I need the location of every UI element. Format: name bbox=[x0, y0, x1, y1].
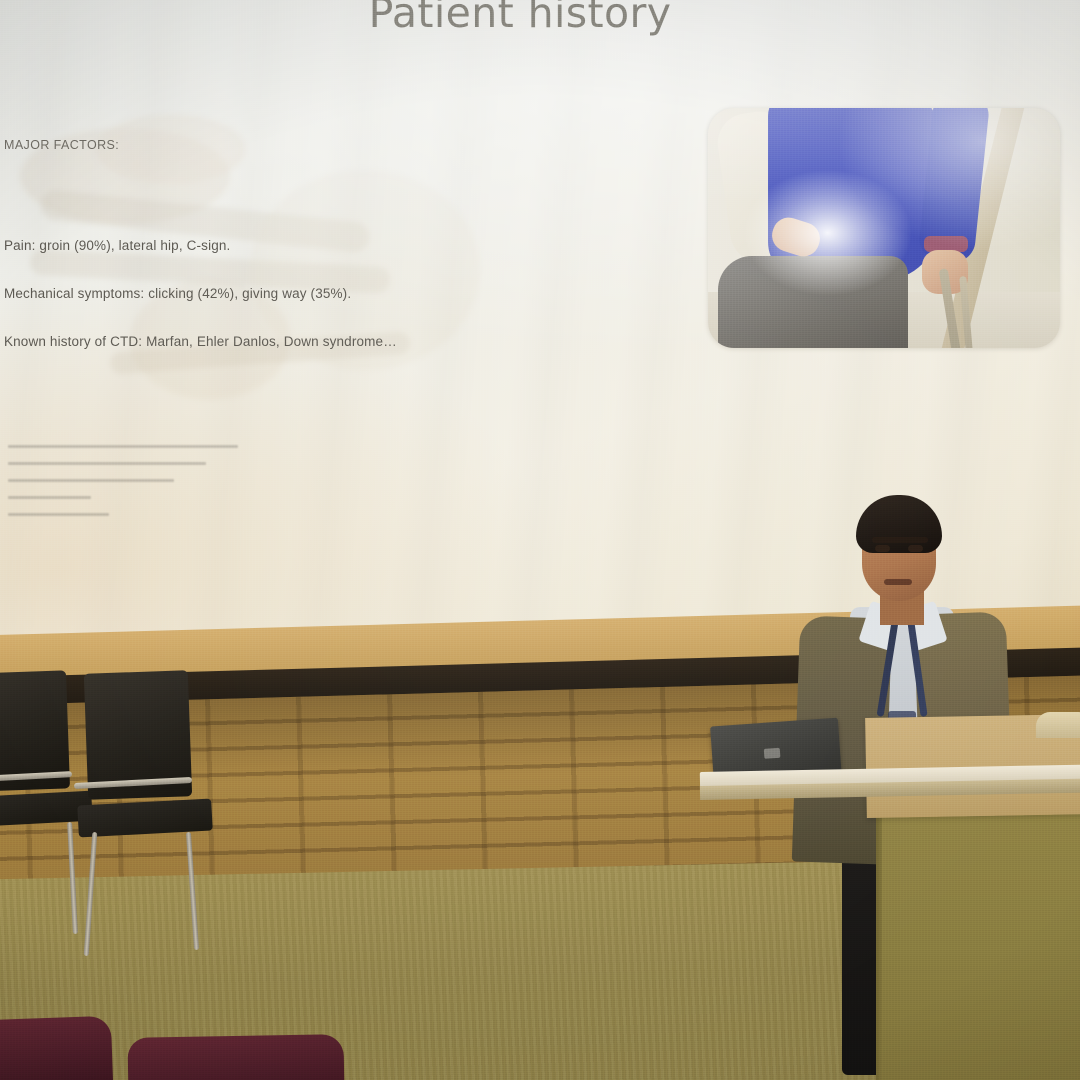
inset-photo-glare bbox=[708, 108, 1060, 348]
maroon-seat-right bbox=[127, 1034, 344, 1080]
chair-back-right bbox=[78, 676, 258, 956]
slide-section-label: MAJOR FACTORS: bbox=[4, 138, 119, 152]
podium-side-lip bbox=[1036, 712, 1080, 738]
slide-bullet-item: Known history of CTD: Marfan, Ehler Danl… bbox=[4, 334, 624, 349]
slide-bullet-item: Mechanical symptoms: clicking (42%), giv… bbox=[4, 286, 624, 301]
speaker-hair bbox=[856, 495, 942, 553]
slide-bullet-item: Pain: groin (90%), lateral hip, C-sign. bbox=[4, 238, 624, 253]
podium-body bbox=[882, 812, 1080, 1080]
slide-bullet-list: Pain: groin (90%), lateral hip, C-sign. … bbox=[4, 238, 624, 382]
lecture-photo-scene: Patient history MAJOR FACTORS: Pain: gro… bbox=[0, 0, 1080, 1080]
slide-inset-photo bbox=[708, 108, 1060, 348]
slide-title: Patient history bbox=[290, 0, 750, 35]
laptop-logo bbox=[764, 748, 781, 759]
maroon-seat-left bbox=[0, 1016, 113, 1080]
slide-reference-citations bbox=[8, 445, 238, 530]
